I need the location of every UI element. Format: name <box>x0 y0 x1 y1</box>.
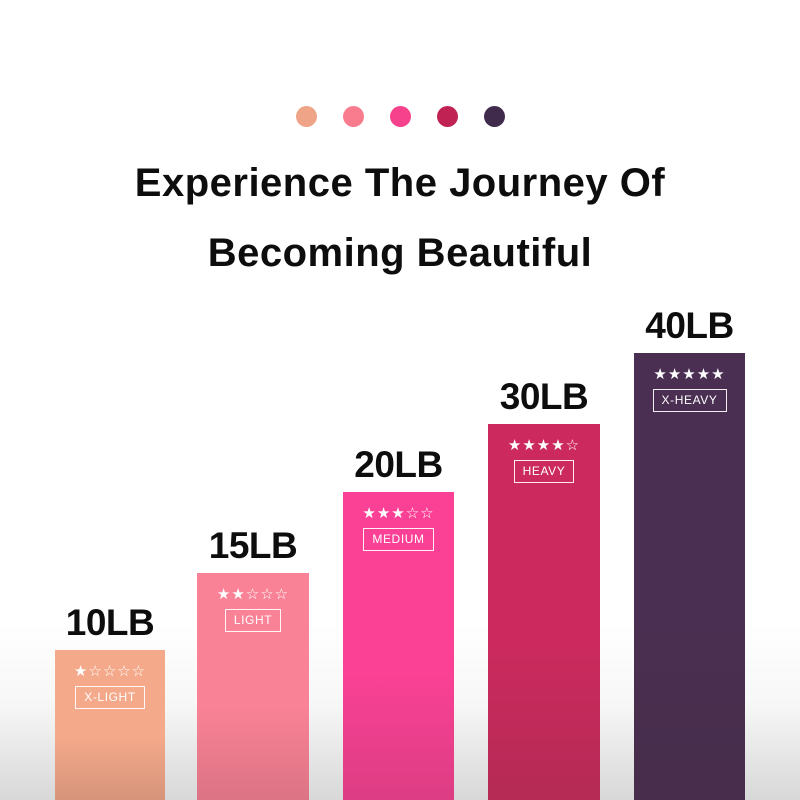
bar-rect: ★★★★☆HEAVY <box>488 424 600 800</box>
bar-value-label: 10LB <box>66 602 154 644</box>
bar-badge: ★★★★☆HEAVY <box>488 438 600 483</box>
resistance-level-label: X-LIGHT <box>75 686 145 709</box>
bar-group-light: 15LB★★☆☆☆LIGHT <box>197 573 309 800</box>
bar-value-label: 40LB <box>645 305 733 347</box>
bar-badge: ★★★★★X-HEAVY <box>634 367 745 412</box>
resistance-bar-chart: 10LB★☆☆☆☆X-LIGHT15LB★★☆☆☆LIGHT20LB★★★☆☆M… <box>0 0 800 800</box>
star-rating-icon: ★★☆☆☆ <box>217 587 289 602</box>
resistance-level-label: HEAVY <box>514 460 575 483</box>
bar-value-label: 20LB <box>354 444 442 486</box>
bar-rect: ★★☆☆☆LIGHT <box>197 573 309 800</box>
star-rating-icon: ★★★★★ <box>653 367 725 382</box>
bar-group-heavy: 30LB★★★★☆HEAVY <box>488 424 600 800</box>
bar-rect: ★☆☆☆☆X-LIGHT <box>55 650 165 800</box>
bar-group-medium: 20LB★★★☆☆MEDIUM <box>343 492 454 800</box>
bar-badge: ★★☆☆☆LIGHT <box>197 587 309 632</box>
bar-group-x-heavy: 40LB★★★★★X-HEAVY <box>634 353 745 800</box>
bar-value-label: 30LB <box>500 376 588 418</box>
resistance-level-label: MEDIUM <box>363 528 433 551</box>
bar-rect: ★★★★★X-HEAVY <box>634 353 745 800</box>
resistance-level-label: LIGHT <box>225 609 281 632</box>
product-infographic: Experience The Journey Of Becoming Beaut… <box>0 0 800 800</box>
resistance-level-label: X-HEAVY <box>653 389 727 412</box>
bar-group-x-light: 10LB★☆☆☆☆X-LIGHT <box>55 650 165 800</box>
bar-rect: ★★★☆☆MEDIUM <box>343 492 454 800</box>
bar-value-label: 15LB <box>209 525 297 567</box>
bar-badge: ★☆☆☆☆X-LIGHT <box>55 664 165 709</box>
star-rating-icon: ★☆☆☆☆ <box>74 664 146 679</box>
star-rating-icon: ★★★★☆ <box>508 438 580 453</box>
star-rating-icon: ★★★☆☆ <box>362 506 434 521</box>
bar-badge: ★★★☆☆MEDIUM <box>343 506 454 551</box>
